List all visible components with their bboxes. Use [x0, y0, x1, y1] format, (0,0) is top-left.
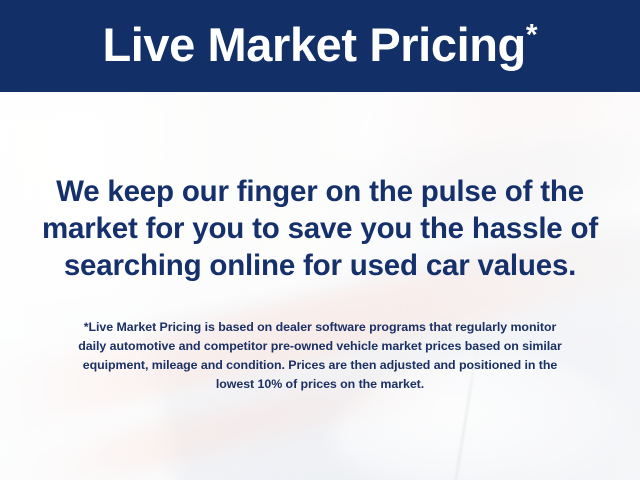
page-title: Live Market Pricing* [102, 21, 537, 71]
headline-line-2: market for you to save you the hassle of [22, 210, 618, 247]
disclaimer-line-2: daily automotive and competitor pre-owne… [24, 337, 616, 356]
headline-line-3: searching online for used car values. [22, 247, 618, 284]
disclaimer-line-4: lowest 10% of prices on the market. [24, 375, 616, 394]
headline-block: We keep our finger on the pulse of the m… [0, 173, 640, 284]
headline-line-1: We keep our finger on the pulse of the [22, 173, 618, 210]
footnote-marker: * [526, 18, 538, 51]
disclaimer-line-1: *Live Market Pricing is based on dealer … [24, 318, 616, 337]
disclaimer-block: *Live Market Pricing is based on dealer … [0, 318, 640, 394]
header-banner: Live Market Pricing* [0, 0, 640, 92]
page-title-text: Live Market Pricing [102, 18, 525, 71]
disclaimer-line-3: equipment, mileage and condition. Prices… [24, 356, 616, 375]
live-market-pricing-promo-card: Live Market Pricing* We keep our finger … [0, 0, 640, 480]
